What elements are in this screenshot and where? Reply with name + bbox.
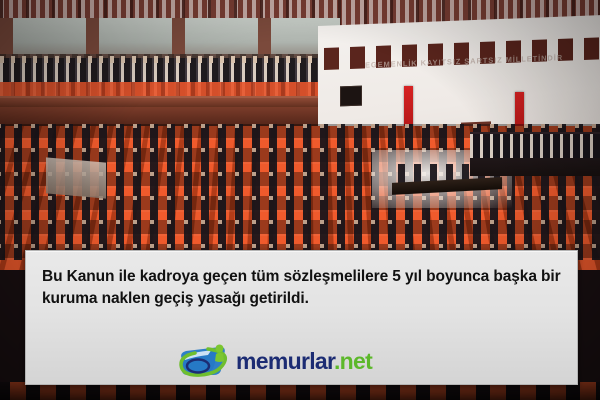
- memurlar-swoosh-icon: [178, 344, 234, 378]
- balcony-crowd-heads: [0, 56, 340, 63]
- caption-banner: Bu Kanun ile kadroya geçen tüm sözleşmel…: [25, 250, 578, 385]
- wall-display-sign: [340, 86, 362, 107]
- logo-wordmark: memurlar.net: [236, 350, 372, 373]
- left-side-desk: [46, 157, 106, 198]
- balcony-railing: [0, 96, 340, 107]
- screenshot-root: EGEMENLİK KAYITSIZ ŞARTSIZ MİLLETİNDİR B…: [0, 0, 600, 400]
- logo-word-net: .net: [334, 348, 372, 374]
- right-gallery-crowd: [470, 134, 600, 158]
- memurlar-net-logo[interactable]: memurlar.net: [178, 343, 428, 379]
- caption-text: Bu Kanun ile kadroya geçen tüm sözleşmel…: [42, 266, 562, 311]
- logo-word-memurlar: memurlar: [236, 348, 334, 374]
